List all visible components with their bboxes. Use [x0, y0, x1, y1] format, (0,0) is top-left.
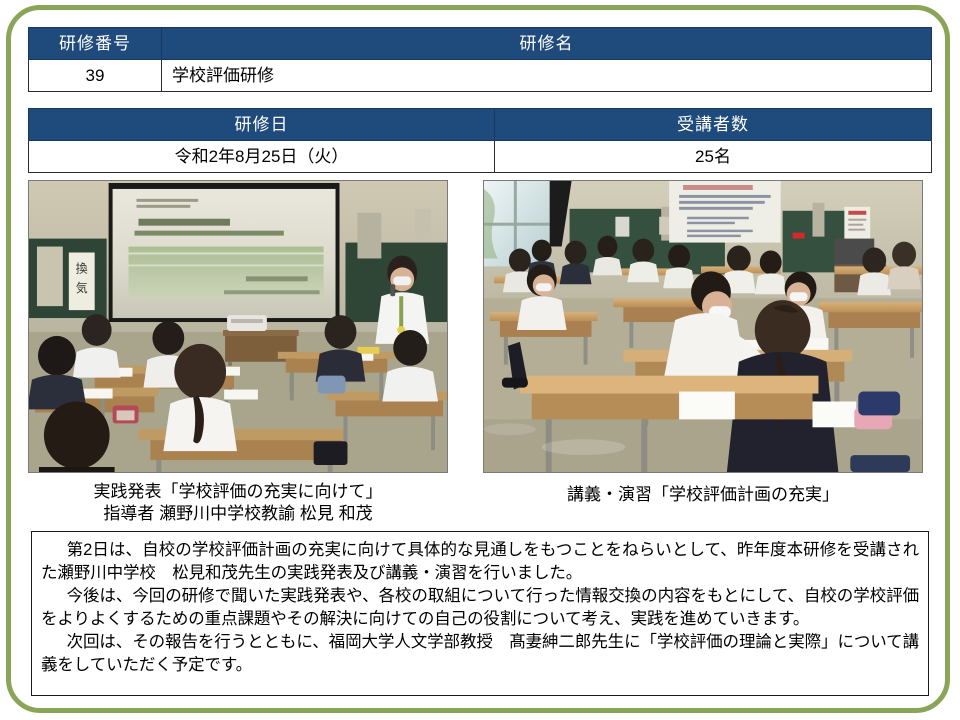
- value-training-number: 39: [29, 60, 162, 92]
- body-paragraph-1: 第2日は、自校の学校評価計画の充実に向けて具体的な見通しをもつことをねらいとして…: [41, 539, 919, 585]
- document-content: 研修番号 研修名 39 学校評価研修 研修日 受講者数 令和2年8月25日（火）…: [0, 0, 960, 720]
- caption-line: 指導者 瀬野川中学校教諭 松見 和茂: [28, 503, 448, 525]
- caption-line: 実践発表「学校評価の充実に向けて」: [28, 481, 448, 503]
- training-identity-table: 研修番号 研修名 39 学校評価研修: [28, 27, 932, 92]
- table-row: 令和2年8月25日（火） 25名: [29, 141, 932, 173]
- value-training-name: 学校評価研修: [162, 60, 932, 92]
- svg-text:換: 換: [76, 261, 88, 275]
- table-row: 研修日 受講者数: [29, 109, 932, 141]
- report-body-textbox: 第2日は、自校の学校評価計画の充実に向けて具体的な見通しをもつことをねらいとして…: [31, 531, 929, 696]
- header-training-date: 研修日: [29, 109, 495, 141]
- body-paragraph-2: 今後は、今回の研修で聞いた実践発表や、各校の取組について行った情報交換の内容をも…: [41, 585, 919, 631]
- value-attendee-count: 25名: [495, 141, 932, 173]
- photo-practice-presentation: 換 気: [28, 180, 448, 473]
- svg-text:気: 気: [76, 281, 88, 295]
- caption-line: 講義・演習「学校評価計画の充実」: [483, 484, 923, 506]
- value-training-date: 令和2年8月25日（火）: [29, 141, 495, 173]
- header-attendee-count: 受講者数: [495, 109, 932, 141]
- body-paragraph-3: 次回は、その報告を行うとともに、福岡大学人文学部教授 髙妻紳二郎先生に「学校評価…: [41, 631, 919, 677]
- table-row: 39 学校評価研修: [29, 60, 932, 92]
- header-training-number: 研修番号: [29, 28, 162, 60]
- table-row: 研修番号 研修名: [29, 28, 932, 60]
- photo-lecture-exercise: [483, 180, 923, 473]
- caption-practice-presentation: 実践発表「学校評価の充実に向けて」 指導者 瀬野川中学校教諭 松見 和茂: [28, 481, 448, 525]
- caption-lecture-exercise: 講義・演習「学校評価計画の充実」: [483, 484, 923, 506]
- training-schedule-table: 研修日 受講者数 令和2年8月25日（火） 25名: [28, 108, 932, 173]
- header-training-name: 研修名: [162, 28, 932, 60]
